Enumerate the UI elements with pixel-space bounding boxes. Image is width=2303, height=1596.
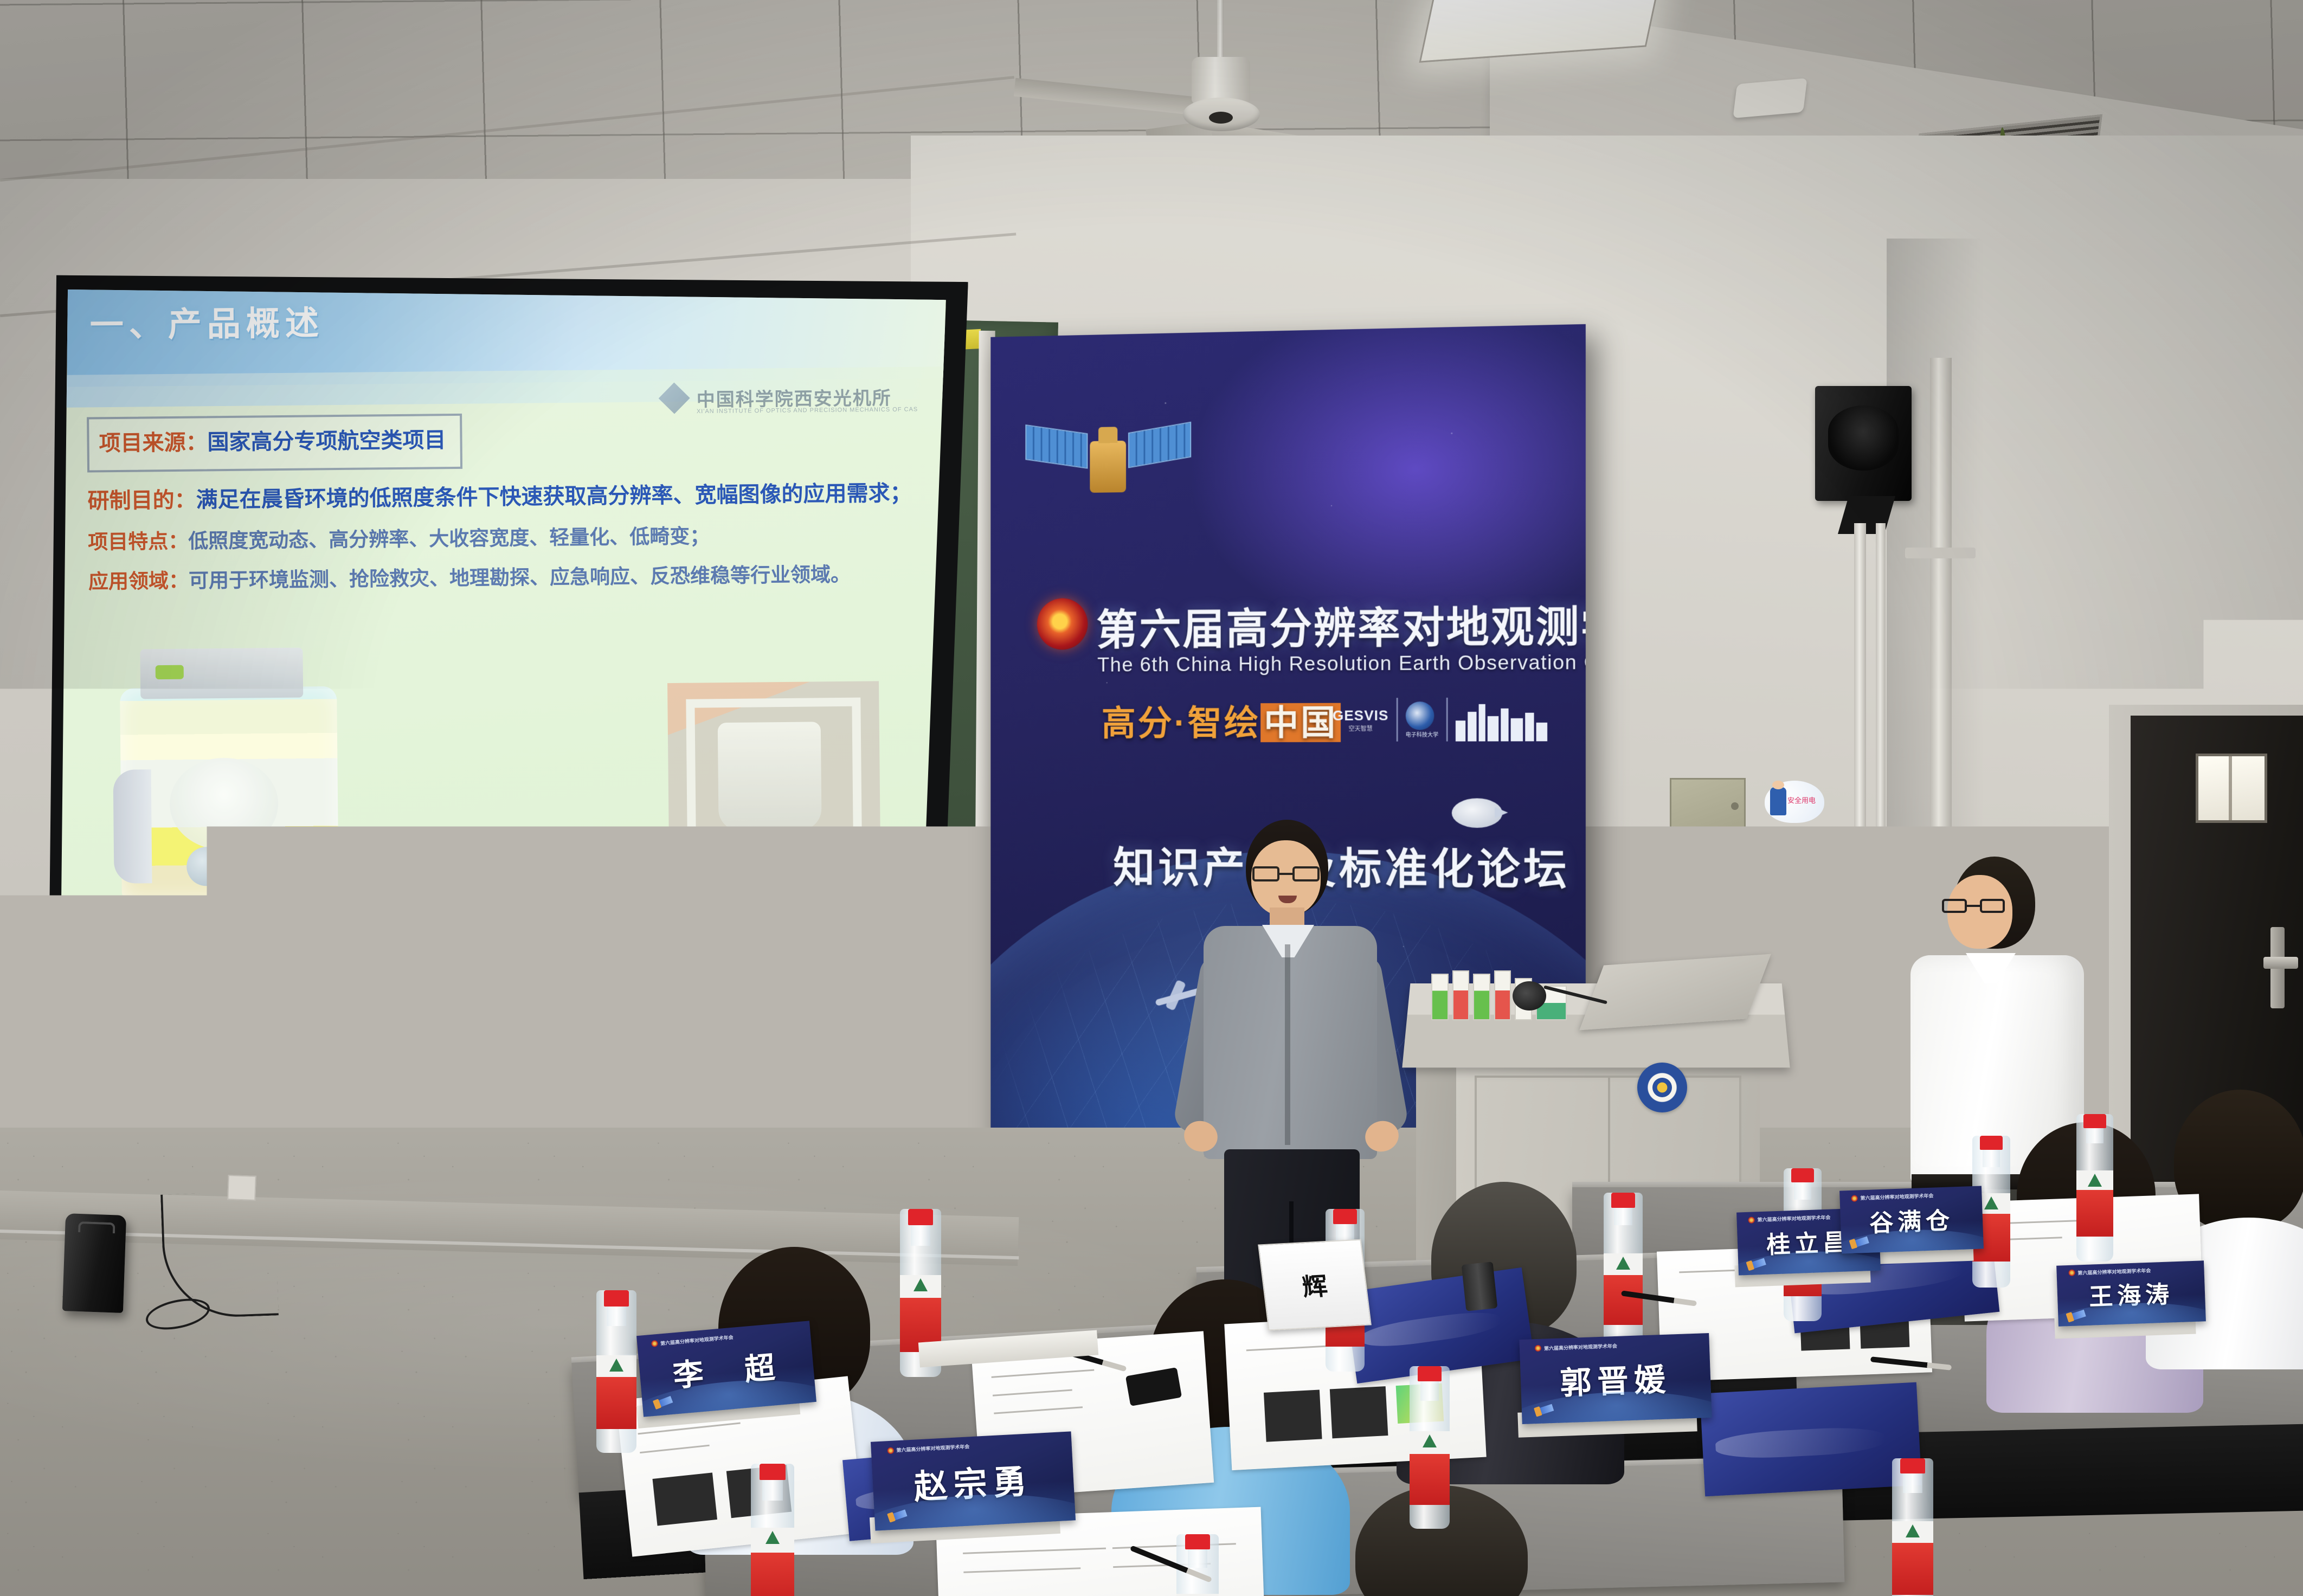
lens-left <box>1942 899 1967 913</box>
gesvis-logo-subtext: 空天智慧 <box>1333 724 1388 732</box>
bottle-label-lower <box>596 1377 636 1429</box>
smoke-detector-icon <box>1733 78 1807 118</box>
slide-figures: 设计模型 相机实物 <box>120 665 882 932</box>
eyeglasses-icon <box>1252 866 1320 883</box>
slide-row-label: 应用领域： <box>88 570 189 593</box>
water-bottle[interactable] <box>596 1290 636 1453</box>
slide-row-value: 可用于环境监测、抢险救灾、地理勘探、应急响应、反恐维稳等行业领域。 <box>189 563 851 592</box>
name-placard: 第六届高分辨率对地观测学术年会 陆 华 <box>919 1257 1114 1355</box>
mark-divider <box>1446 698 1448 742</box>
placard-logo-dot <box>935 1275 942 1282</box>
door-window <box>2196 754 2267 823</box>
projection-screen[interactable]: 一、产品概述 中国科学院西安光机所 XI'AN INSTITUTE OF OPT… <box>35 260 968 1019</box>
bottle-label-lower <box>1604 1275 1643 1325</box>
placard-header-text: 第六届高分辨率对地观测学术年会 <box>896 1443 970 1454</box>
name-placard: 第六届高分辨率对地观测学术年会 王海涛 <box>2056 1260 2206 1326</box>
placard-logo-dot <box>2068 1270 2075 1276</box>
cad-model-lens <box>169 757 279 851</box>
placard-header: 第六届高分辨率对地观测学术年会 <box>935 1269 1018 1282</box>
university-logo: 电子科技大学 <box>1406 702 1439 738</box>
placard-header-text: 第六届高分辨率对地观测学术年会 <box>2077 1267 2151 1277</box>
booklet-highlight <box>1360 1308 1502 1352</box>
placard-logo-dot <box>1748 1217 1754 1223</box>
water-bottle[interactable] <box>1604 1193 1643 1350</box>
paper-name-card: 辉 <box>1258 1239 1372 1331</box>
institute-logo-mark <box>658 382 690 414</box>
placard-header: 第六届高分辨率对地观测学术年会 <box>2068 1267 2151 1277</box>
slide-row-value: 低照度宽动态、高分辨率、大收容宽度、轻量化、低畸变； <box>188 525 710 552</box>
lectern-control-panel[interactable] <box>1579 954 1771 1031</box>
glasses-bridge <box>1279 873 1292 875</box>
placard-logo-dot <box>1851 1195 1857 1201</box>
bottle-cap[interactable] <box>1611 1193 1635 1208</box>
conference-booklet[interactable] <box>1700 1382 1921 1497</box>
camera-photo <box>667 681 881 894</box>
airship-icon <box>1452 798 1503 828</box>
supply-box <box>1494 970 1511 1020</box>
bottle-cap[interactable] <box>1791 1168 1814 1182</box>
wall-conduit <box>1854 523 1866 968</box>
slide-row-applications: 应用领域：可用于环境监测、抢险救灾、地理勘探、应急响应、反恐维稳等行业领域。 <box>88 558 923 597</box>
supply-box <box>1431 974 1449 1020</box>
water-bottle[interactable] <box>1892 1458 1933 1596</box>
institute-logo: 中国科学院西安光机所 XI'AN INSTITUTE OF OPTICS AND… <box>658 381 892 414</box>
conference-room-photo: 安全用电 一、产品概述 中国科学院西安光机所 XI'AN INSTITUTE O… <box>0 0 2303 1596</box>
university-logo-mark <box>1406 702 1434 730</box>
cad-model-top-module <box>140 648 303 699</box>
camera-base-plate <box>702 840 848 870</box>
university-logo-text: 电子科技大学 <box>1406 730 1439 738</box>
microphone-icon <box>1513 981 1546 1011</box>
slide-title: 一、产品概述 <box>89 295 324 346</box>
booklet-highlight <box>1715 1425 1885 1461</box>
bottle-cap[interactable] <box>1333 1209 1357 1224</box>
wall-conduit <box>1876 523 1886 957</box>
name-placard: 第六届高分辨率对地观测学术年会 郭晋媛 <box>1519 1333 1712 1424</box>
backdrop-title-cn: 第六届高分辨率对地观测学术年会 <box>1096 591 1586 657</box>
slide-row-label: 研制目的： <box>87 488 196 513</box>
city-skyline-icon <box>1456 702 1549 741</box>
paper-figure <box>1264 1389 1322 1442</box>
bottle-label-lower <box>751 1553 794 1596</box>
supply-box <box>1452 970 1470 1020</box>
ceiling-fan-rod <box>1217 0 1224 64</box>
slide-row-features: 项目特点：低照度宽动态、高分辨率、大收容宽度、轻量化、低畸变； <box>88 519 923 558</box>
satellite-icon <box>1022 414 1198 518</box>
electrical-cabinet <box>1670 778 1746 832</box>
glasses-bridge <box>1967 905 1980 907</box>
slide-row-value: 满足在晨昏环境的低照度条件下快速获取高分辨率、宽幅图像的应用需求； <box>196 481 911 512</box>
satellite-solar-panel <box>1128 422 1191 468</box>
name-placard: 第六届高分辨率对地观测学术年会 李 超 <box>636 1321 816 1417</box>
placard-logo-dot <box>651 1340 658 1347</box>
water-bottle[interactable] <box>2076 1114 2113 1262</box>
bottle-cap[interactable] <box>1900 1458 1925 1473</box>
bottle-label-upper <box>1176 1594 1219 1596</box>
safety-sticker-text: 安全用电 <box>1787 795 1816 805</box>
paper-text-line <box>993 1389 1072 1396</box>
lens-left <box>1252 866 1279 881</box>
pipe-clamp <box>1905 548 1976 558</box>
satellite-solar-panel <box>1025 424 1088 469</box>
water-bottle[interactable] <box>1410 1366 1450 1529</box>
name-placard: 第六届高分辨率对地观测学术年会 赵宗勇 <box>871 1431 1076 1530</box>
water-bottle[interactable] <box>1176 1534 1219 1596</box>
ceiling-fan-motor <box>1192 57 1250 104</box>
ceiling-fan-hub <box>1183 98 1260 131</box>
floor-amplifier-box <box>62 1213 126 1313</box>
paper-figure <box>652 1472 717 1526</box>
conference-logo-mark <box>1037 598 1088 650</box>
presenter-shirt <box>1204 926 1377 1159</box>
cad-model-drum <box>113 769 152 884</box>
paper-text-line <box>963 1567 1080 1573</box>
bottle-cap[interactable] <box>2083 1114 2106 1128</box>
slide-row-label: 项目特点： <box>88 530 188 554</box>
bottle-label-lower <box>2076 1190 2113 1237</box>
bottle-cap[interactable] <box>760 1464 786 1480</box>
cad-model-knob <box>186 847 226 886</box>
placard-header: 第六届高分辨率对地观测学术年会 <box>651 1333 734 1347</box>
handheld-recorder[interactable] <box>1462 1262 1498 1311</box>
backdrop-slogan-prefix: 高分·智绘 <box>1102 703 1261 742</box>
paper-figure <box>1330 1386 1388 1439</box>
backdrop-partner-marks: GESVIS 空天智慧 电子科技大学 <box>1333 697 1549 742</box>
worker-figure-icon <box>1770 787 1786 815</box>
placard-header-text: 第六届高分辨率对地观测学术年会 <box>1757 1214 1830 1224</box>
lectern-supply-boxes <box>1431 968 1567 1020</box>
paper-text-line <box>640 1444 710 1453</box>
placard-logo-dot <box>1535 1345 1541 1352</box>
placard-header: 第六届高分辨率对地观测学术年会 <box>887 1443 969 1455</box>
placard-header: 第六届高分辨率对地观测学术年会 <box>1535 1342 1617 1352</box>
paper-text-line <box>963 1548 1106 1554</box>
placard-header: 第六届高分辨率对地观测学术年会 <box>1748 1214 1830 1224</box>
door-handle[interactable] <box>2263 957 2298 969</box>
safety-sticker: 安全用电 <box>1765 781 1824 823</box>
paper-text-line <box>994 1406 1083 1414</box>
gesvis-logo: GESVIS 空天智慧 <box>1333 707 1388 732</box>
supply-box <box>1473 974 1490 1020</box>
slide-figure-design-model: 设计模型 <box>120 686 339 933</box>
bottle-label-lower <box>1892 1543 1933 1595</box>
wall-mounted-speaker <box>1815 386 1912 501</box>
paper-text-line <box>992 1369 1094 1378</box>
placard-header-text: 第六届高分辨率对地观测学术年会 <box>1860 1192 1933 1202</box>
slide-body: 项目来源：国家高分专项航空类项目 研制目的：满足在晨昏环境的低照度条件下快速获取… <box>87 409 923 606</box>
slide-canvas: 一、产品概述 中国科学院西安光机所 XI'AN INSTITUTE OF OPT… <box>52 279 946 988</box>
lens-right <box>1980 899 2005 913</box>
bottle-label-lower <box>1410 1454 1450 1505</box>
camera-body <box>718 722 822 831</box>
water-bottle[interactable] <box>751 1464 794 1596</box>
bottle-cap[interactable] <box>1185 1534 1210 1549</box>
lens-right <box>1292 866 1320 881</box>
cad-model-render <box>120 686 339 900</box>
placard-logo-dot <box>887 1447 894 1455</box>
mark-divider <box>1396 698 1398 741</box>
bottle-cap[interactable] <box>908 1209 933 1225</box>
satellite-body <box>1090 441 1126 493</box>
name-placard: 第六届高分辨率对地观测学术年会 谷满仓 <box>1839 1186 1984 1253</box>
slide-figure-real-camera: 相机实物 <box>667 681 881 928</box>
presenter-shirt-placket <box>1285 944 1290 1145</box>
slide-row-label: 项目来源： <box>99 430 207 455</box>
bottle-cap[interactable] <box>604 1290 629 1307</box>
cad-model-panel <box>246 838 328 886</box>
placard-header: 第六届高分辨率对地观测学术年会 <box>1851 1192 1933 1202</box>
bottle-cap[interactable] <box>1980 1136 2003 1150</box>
slide-row-purpose: 研制目的：满足在晨昏环境的低照度条件下快速获取高分辨率、宽幅图像的应用需求； <box>87 477 923 518</box>
placard-header-text: 第六届高分辨率对地观测学术年会 <box>660 1333 734 1347</box>
backdrop-slogan-highlight: 中国 <box>1260 703 1341 742</box>
slide-row-source: 项目来源：国家高分专项航空类项目 <box>87 414 462 473</box>
eyeglasses-icon <box>1942 899 2005 914</box>
bottle-cap[interactable] <box>1418 1366 1442 1381</box>
gesvis-logo-text: GESVIS <box>1333 707 1388 723</box>
placard-header-text: 第六届高分辨率对地观测学术年会 <box>944 1269 1018 1281</box>
slide-row-value: 国家高分专项航空类项目 <box>207 428 446 454</box>
university-emblem <box>1637 1063 1687 1112</box>
backdrop-title-en: The 6th China High Resolution Earth Obse… <box>1097 651 1586 677</box>
placard-header-text: 第六届高分辨率对地观测学术年会 <box>1544 1342 1617 1352</box>
backdrop-slogan: 高分·智绘中国 <box>1102 695 1341 745</box>
